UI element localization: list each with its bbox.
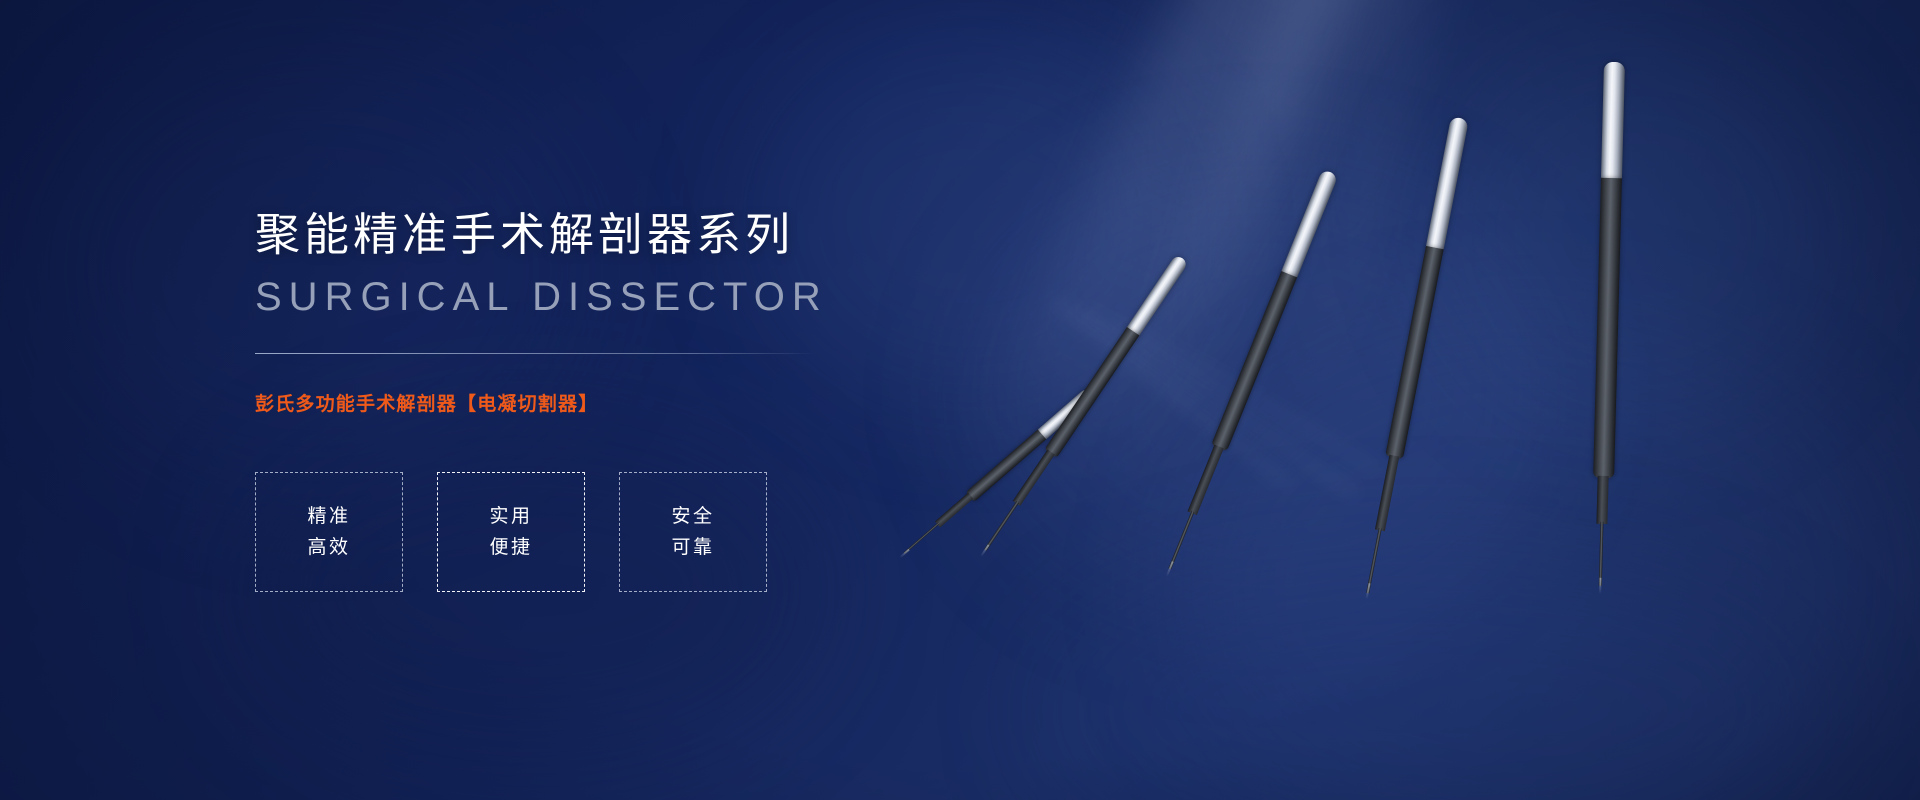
promotional-banner: 聚能精准手术解剖器系列 SURGICAL DISSECTOR 彭氏多功能手术解剖… [0, 0, 1920, 800]
page-title: 聚能精准手术解剖器系列 [255, 208, 1015, 261]
divider [255, 353, 815, 354]
feature-box-practical[interactable]: 实用 便捷 [437, 472, 585, 592]
feature-label: 安全 [671, 507, 714, 526]
feature-box-group: 精准 高效 实用 便捷 安全 可靠 [255, 472, 1015, 592]
feature-label: 可靠 [671, 538, 714, 557]
product-name-highlight: 彭氏多功能手术解剖器【电凝切割器】 [255, 389, 1015, 416]
feature-box-precision[interactable]: 精准 高效 [255, 472, 403, 592]
page-subtitle-english: SURGICAL DISSECTOR [255, 275, 1015, 320]
feature-label: 实用 [489, 507, 532, 526]
banner-content: 聚能精准手术解剖器系列 SURGICAL DISSECTOR 彭氏多功能手术解剖… [255, 0, 1015, 800]
feature-label: 高效 [307, 538, 350, 557]
feature-label: 便捷 [489, 538, 532, 557]
feature-label: 精准 [307, 507, 350, 526]
feature-box-safety[interactable]: 安全 可靠 [619, 472, 767, 592]
product-image-surgical-dissectors [1150, 0, 1920, 800]
